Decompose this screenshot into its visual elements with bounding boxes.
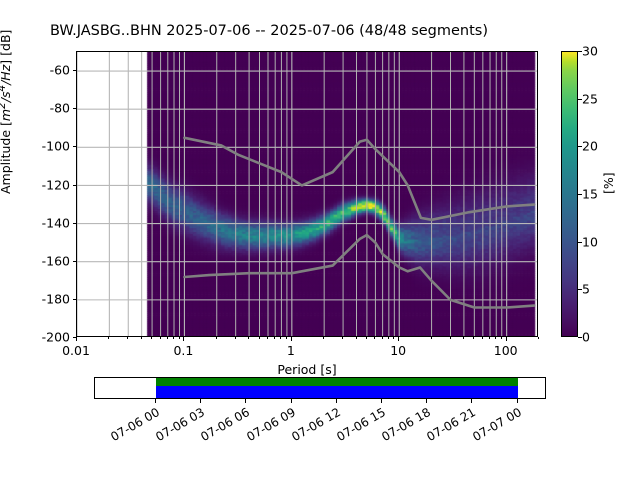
x-minor-tick-mark — [501, 337, 502, 339]
x-tick-label: 0.01 — [62, 343, 90, 358]
coverage-tick-mark — [381, 399, 382, 403]
y-tick-label: -120 — [42, 177, 70, 192]
x-minor-tick-mark — [495, 337, 496, 339]
x-minor-tick-mark — [141, 337, 142, 339]
x-minor-tick-mark — [286, 337, 287, 339]
x-minor-tick-mark — [482, 337, 483, 339]
x-minor-tick-mark — [356, 337, 357, 339]
colorbar-tick-mark — [578, 289, 582, 290]
x-tick-label: 10 — [390, 343, 406, 358]
x-tick-mark — [291, 337, 292, 341]
x-minor-tick-mark — [431, 337, 432, 339]
ppsd-axes — [76, 51, 538, 337]
y-tick-label: -80 — [50, 101, 70, 116]
coverage-band-blue — [156, 386, 518, 398]
coverage-tick-mark — [155, 399, 156, 403]
x-minor-tick-mark — [274, 337, 275, 339]
x-minor-tick-mark — [388, 337, 389, 339]
figure-title: BW.JASBG..BHN 2025-07-06 -- 2025-07-06 (… — [50, 23, 488, 39]
colorbar-tick-mark — [578, 194, 582, 195]
x-minor-tick-mark — [382, 337, 383, 339]
colorbar-tick-label: 25 — [582, 91, 598, 106]
ppsd-figure: BW.JASBG..BHN 2025-07-06 -- 2025-07-06 (… — [0, 0, 640, 480]
x-minor-tick-mark — [342, 337, 343, 339]
y-tick-mark — [73, 146, 77, 147]
coverage-tick-mark — [245, 399, 246, 403]
y-tick-label: -160 — [42, 253, 70, 268]
y-tick-label: -60 — [50, 63, 70, 78]
x-minor-tick-mark — [151, 337, 152, 339]
colorbar-label: [%] — [601, 172, 616, 194]
y-tick-mark — [73, 108, 77, 109]
noise-model-curves — [77, 52, 538, 337]
x-minor-tick-mark — [280, 337, 281, 339]
y-tick-label: -140 — [42, 215, 70, 230]
x-minor-tick-mark — [160, 337, 161, 339]
colorbar-tick-label: 15 — [582, 187, 598, 202]
x-minor-tick-mark — [450, 337, 451, 339]
x-minor-tick-mark — [538, 337, 539, 339]
x-minor-tick-mark — [463, 337, 464, 339]
x-tick-label: 0.1 — [173, 343, 193, 358]
x-minor-tick-mark — [489, 337, 490, 339]
colorbar-tick-label: 30 — [582, 44, 598, 59]
colorbar-tick-mark — [578, 337, 582, 338]
y-tick-mark — [73, 185, 77, 186]
colorbar-tick-mark — [578, 242, 582, 243]
coverage-tick-mark — [291, 399, 292, 403]
x-axis-label: Period [s] — [277, 362, 336, 377]
colorbar-tick-label: 20 — [582, 139, 598, 154]
coverage-tick-mark — [426, 399, 427, 403]
x-minor-tick-mark — [267, 337, 268, 339]
x-minor-tick-mark — [108, 337, 109, 339]
colorbar — [561, 51, 578, 337]
x-tick-label: 100 — [494, 343, 518, 358]
y-tick-label: -180 — [42, 291, 70, 306]
x-tick-label: 1 — [287, 343, 295, 358]
colorbar-tick-mark — [578, 99, 582, 100]
x-tick-mark — [183, 337, 184, 341]
y-tick-mark — [73, 299, 77, 300]
coverage-tick-mark — [336, 399, 337, 403]
colorbar-tick-label: 0 — [582, 330, 590, 345]
colorbar-tick-mark — [578, 51, 582, 52]
x-minor-tick-mark — [179, 337, 180, 339]
x-minor-tick-mark — [127, 337, 128, 339]
y-tick-mark — [73, 70, 77, 71]
coverage-band-green — [156, 378, 518, 386]
x-minor-tick-mark — [259, 337, 260, 339]
y-tick-label: -100 — [42, 139, 70, 154]
colorbar-tick-mark — [578, 146, 582, 147]
x-minor-tick-mark — [374, 337, 375, 339]
x-minor-tick-mark — [248, 337, 249, 339]
coverage-tick-mark — [471, 399, 472, 403]
x-minor-tick-mark — [173, 337, 174, 339]
coverage-tick-mark — [517, 399, 518, 403]
x-minor-tick-mark — [216, 337, 217, 339]
data-coverage-bar — [94, 377, 546, 399]
coverage-tick-mark — [200, 399, 201, 403]
x-tick-mark — [506, 337, 507, 341]
x-tick-mark — [76, 337, 77, 341]
y-tick-mark — [73, 261, 77, 262]
y-tick-mark — [73, 223, 77, 224]
x-minor-tick-mark — [323, 337, 324, 339]
coverage-fill — [156, 378, 518, 398]
colorbar-tick-label: 10 — [582, 234, 598, 249]
x-minor-tick-mark — [235, 337, 236, 339]
x-minor-tick-mark — [366, 337, 367, 339]
x-minor-tick-mark — [473, 337, 474, 339]
y-axis-label: Amplitude [m2/s4/Hz] [dB] — [0, 30, 13, 194]
x-minor-tick-mark — [393, 337, 394, 339]
x-minor-tick-mark — [167, 337, 168, 339]
x-tick-mark — [398, 337, 399, 341]
colorbar-tick-label: 5 — [582, 282, 590, 297]
